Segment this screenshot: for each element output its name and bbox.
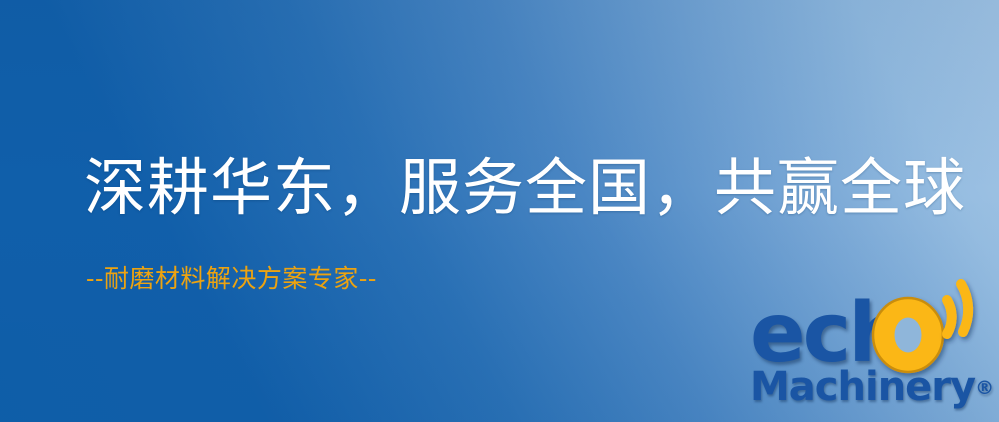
banner-headline: 深耕华东，服务全国，共赢全球 [84, 152, 966, 224]
logo-company-name: Machinery® [750, 364, 994, 411]
logo-company-text: Machinery [750, 364, 975, 410]
echo-machinery-logo: ech Machinery® [748, 296, 999, 422]
registered-trademark-icon: ® [975, 377, 994, 399]
promo-banner: 深耕华东，服务全国，共赢全球 --耐磨材料解决方案专家-- ech [0, 0, 999, 422]
banner-subtitle: --耐磨材料解决方案专家-- [86, 263, 377, 295]
echo-wave-arcs-icon [947, 284, 968, 334]
logo-o-ring-icon [873, 298, 943, 372]
